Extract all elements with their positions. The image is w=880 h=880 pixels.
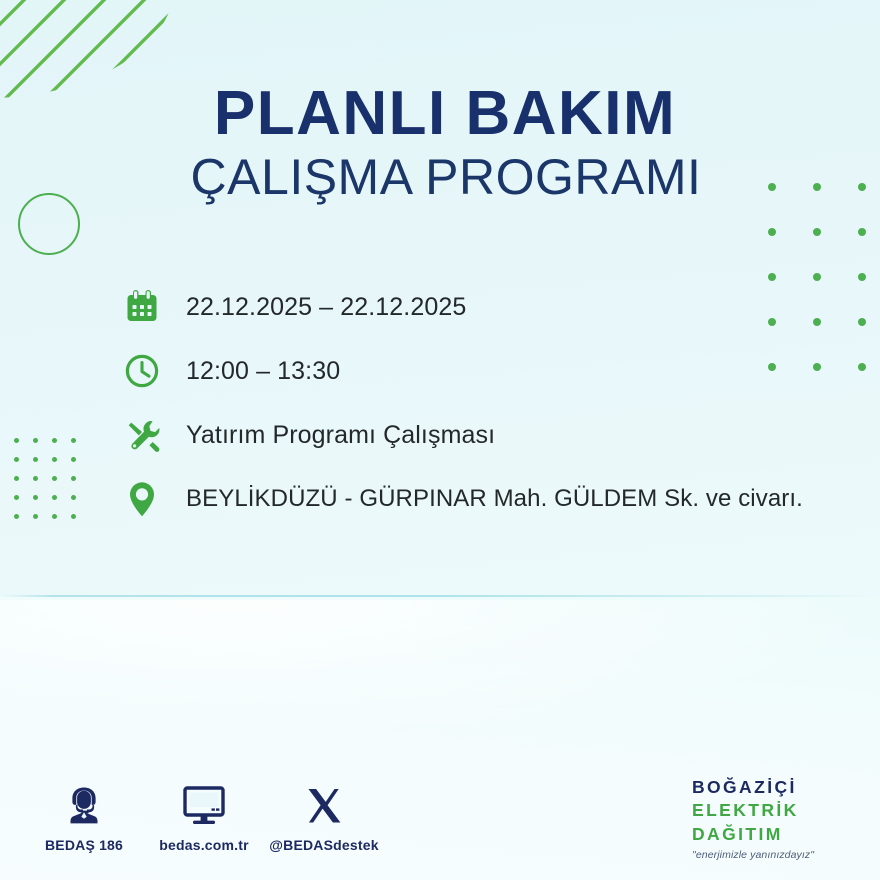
brand-line-2: ELEKTRİK bbox=[692, 799, 852, 822]
detail-row-time: 12:00 – 13:30 bbox=[118, 339, 878, 403]
page-title: PLANLI BAKIM ÇALIŞMA PROGRAMI bbox=[0, 82, 880, 209]
contact-website[interactable]: bedas.com.tr bbox=[162, 780, 246, 853]
brand-tagline: "enerjimizle yanınızdayız" bbox=[692, 849, 852, 861]
brand-line-3: DAĞITIM bbox=[692, 823, 852, 846]
detail-row-worktype: Yatırım Programı Çalışması bbox=[118, 403, 878, 467]
tools-icon bbox=[118, 411, 166, 459]
footer: BEDAŞ 186 bedas.com.tr bbox=[0, 780, 880, 880]
contact-website-label: bedas.com.tr bbox=[159, 837, 249, 853]
maintenance-details: 22.12.2025 – 22.12.2025 12:00 – 13:30 bbox=[118, 275, 878, 531]
location-pin-icon bbox=[118, 475, 166, 523]
background-divider bbox=[0, 595, 880, 597]
monitor-icon bbox=[181, 780, 227, 828]
calendar-icon bbox=[118, 283, 166, 331]
detail-row-location: BEYLİKDÜZÜ - GÜRPINAR Mah. GÜLDEM Sk. ve… bbox=[118, 467, 878, 531]
contact-channels: BEDAŞ 186 bedas.com.tr bbox=[42, 780, 366, 853]
contact-x-label: @BEDASdestek bbox=[269, 837, 378, 853]
contact-phone-label: BEDAŞ 186 bbox=[45, 837, 123, 853]
background-glow bbox=[0, 600, 880, 750]
work-type-text: Yatırım Programı Çalışması bbox=[186, 421, 495, 450]
planned-maintenance-poster: PLANLI BAKIM ÇALIŞMA PROGRAMI bbox=[0, 0, 880, 880]
title-subtitle: ÇALIŞMA PROGRAMI bbox=[0, 145, 880, 209]
time-range-text: 12:00 – 13:30 bbox=[186, 357, 340, 386]
brand-logo: BOĞAZİÇİ ELEKTRİK DAĞITIM "enerjimizle y… bbox=[692, 776, 852, 861]
contact-phone[interactable]: BEDAŞ 186 bbox=[42, 780, 126, 853]
contact-x-account[interactable]: @BEDASdestek bbox=[282, 780, 366, 853]
clock-icon bbox=[118, 347, 166, 395]
title-main: PLANLI BAKIM bbox=[0, 82, 880, 145]
x-twitter-icon bbox=[302, 780, 346, 828]
detail-row-date: 22.12.2025 – 22.12.2025 bbox=[118, 275, 878, 339]
date-range-text: 22.12.2025 – 22.12.2025 bbox=[186, 293, 466, 322]
headset-support-icon bbox=[61, 780, 107, 828]
brand-line-1: BOĞAZİÇİ bbox=[692, 776, 852, 799]
location-text: BEYLİKDÜZÜ - GÜRPINAR Mah. GÜLDEM Sk. ve… bbox=[186, 485, 803, 513]
dot-grid-decoration-left bbox=[10, 434, 90, 514]
